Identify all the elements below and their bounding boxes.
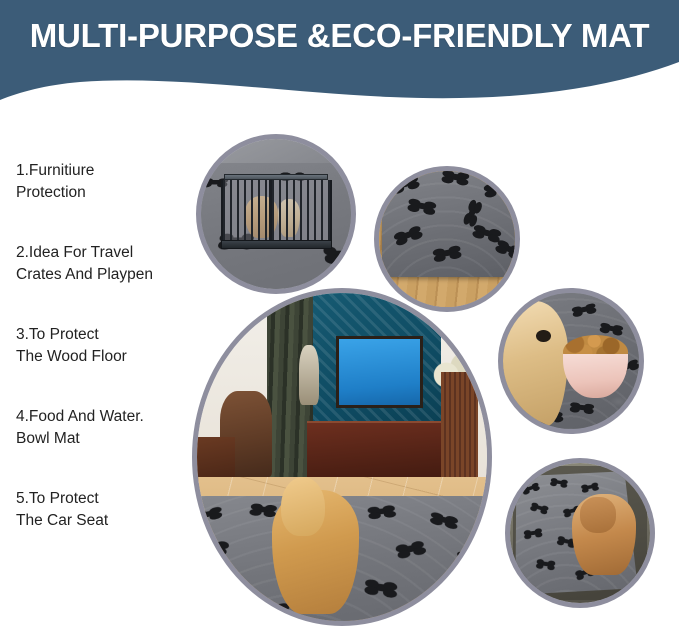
crate-base-tray (221, 240, 332, 249)
bone-icon (205, 541, 225, 551)
television (336, 336, 423, 408)
photo-circle-wood-floor (374, 166, 520, 312)
bone-icon (373, 509, 391, 516)
bone-knob (199, 538, 215, 552)
bone-icon (401, 544, 421, 554)
bone-knob (580, 484, 589, 492)
crate-divider (269, 180, 272, 243)
bone-knob (433, 248, 446, 261)
bone-icon (197, 574, 199, 587)
bone-knob (499, 181, 512, 194)
bone-icon (524, 484, 536, 491)
golden-retriever-head (281, 477, 325, 536)
bone-icon (553, 480, 565, 485)
bone-icon (463, 556, 481, 568)
bone-knob (569, 401, 579, 411)
bone-knob (210, 507, 223, 520)
bone-knob (628, 358, 639, 370)
bone-icon (256, 506, 273, 513)
bone-knob (560, 479, 568, 487)
bone-icon (371, 583, 392, 593)
photo-crate-content (201, 139, 351, 289)
bone-knob (423, 201, 436, 214)
dog-crate (221, 174, 332, 249)
bone-knob (572, 305, 583, 316)
bone-icon (477, 228, 496, 238)
photo-living-content (197, 293, 487, 621)
bone-knob (431, 608, 446, 621)
bone-icon (412, 202, 431, 211)
bone-knob (523, 529, 531, 538)
bone-icon (329, 250, 351, 258)
pet-mat-on-wood (382, 171, 515, 277)
bone-icon (489, 184, 507, 192)
bone-knob (535, 559, 544, 568)
bone-knob (258, 605, 272, 621)
bone-knob (408, 225, 423, 240)
bone-knob (540, 504, 549, 513)
bone-knob (450, 613, 465, 621)
bone-knob (449, 245, 462, 258)
bone-icon (603, 324, 619, 332)
golden-retriever-at-bowl (503, 301, 568, 426)
bone-knob (368, 507, 381, 519)
bone-knob (531, 482, 540, 491)
bone-knob (484, 183, 497, 196)
bone-knob (508, 244, 515, 259)
bone-knob (472, 224, 486, 238)
bone-knob (395, 544, 411, 558)
bone-knob (446, 515, 459, 529)
bone-icon (446, 173, 464, 181)
photo-circle-crate (196, 134, 356, 294)
bone-knob (390, 179, 404, 193)
feature-item-5: 5.To Protect The Car Seat (16, 488, 206, 532)
bone-knob (384, 581, 398, 596)
bone-icon (395, 179, 414, 190)
bone-knob (549, 478, 557, 486)
bone-knob (441, 171, 454, 183)
photo-circle-car-seat (505, 458, 655, 608)
photo-bowl-content (503, 293, 639, 429)
bone-knob (521, 485, 530, 494)
bone-knob (584, 403, 594, 413)
bone-knob (574, 569, 584, 579)
bone-icon (500, 243, 515, 255)
photo-circle-food-bowl (498, 288, 644, 434)
bone-knob (467, 199, 482, 214)
bone-knob (383, 506, 397, 518)
bone-knob (530, 501, 539, 510)
bone-knob (250, 503, 264, 515)
feature-list: 1.Furnitiure Protection 2.Idea For Trave… (16, 160, 206, 532)
bone-icon (533, 504, 545, 511)
bone-knob (393, 231, 408, 246)
bone-knob (457, 551, 472, 567)
bone-knob (214, 541, 230, 555)
bone-knob (323, 247, 340, 262)
bone-knob (365, 579, 379, 594)
bone-icon (436, 515, 453, 525)
bone-icon (527, 530, 539, 536)
bone-knob (431, 512, 444, 525)
bone-knob (197, 570, 205, 586)
bone-icon (466, 205, 477, 222)
crate-bars (221, 180, 332, 243)
bone-knob (561, 507, 570, 516)
bone-knob (599, 321, 610, 332)
bone-knob (472, 556, 487, 572)
bone-knob (411, 541, 427, 555)
photo-wood-content (379, 171, 515, 307)
table-lamp (299, 345, 319, 404)
photo-circle-living-room (192, 288, 492, 626)
bone-icon (584, 484, 596, 490)
bone-knob (590, 482, 599, 490)
bone-icon (437, 613, 458, 621)
bone-knob (612, 324, 623, 335)
bone-knob (556, 535, 565, 544)
bone-icon (264, 607, 285, 617)
feature-item-1: 1.Furnitiure Protection (16, 160, 206, 204)
photo-car-content (510, 463, 650, 603)
product-infographic: MULTI-PURPOSE &ECO-FRIENDLY MAT 1.Furnit… (0, 0, 679, 642)
bone-icon (559, 537, 572, 544)
bone-knob (534, 528, 542, 537)
feature-item-3: 3.To Protect The Wood Floor (16, 324, 206, 368)
feature-item-2: 2.Idea For Travel Crates And Playpen (16, 242, 206, 286)
bone-knob (546, 560, 555, 569)
bone-icon (574, 404, 590, 411)
bone-icon (539, 561, 552, 567)
bone-knob (586, 302, 597, 313)
bone-knob (342, 247, 351, 262)
bone-knob (456, 172, 469, 185)
dog-nose (536, 330, 551, 342)
bone-icon (576, 305, 593, 313)
puppy-face (580, 497, 616, 533)
bone-knob (407, 198, 420, 211)
bone-knob (406, 175, 420, 189)
feature-item-4: 4.Food And Water. Bowl Mat (16, 406, 206, 450)
bone-icon (438, 249, 457, 258)
bone-icon (398, 230, 417, 242)
